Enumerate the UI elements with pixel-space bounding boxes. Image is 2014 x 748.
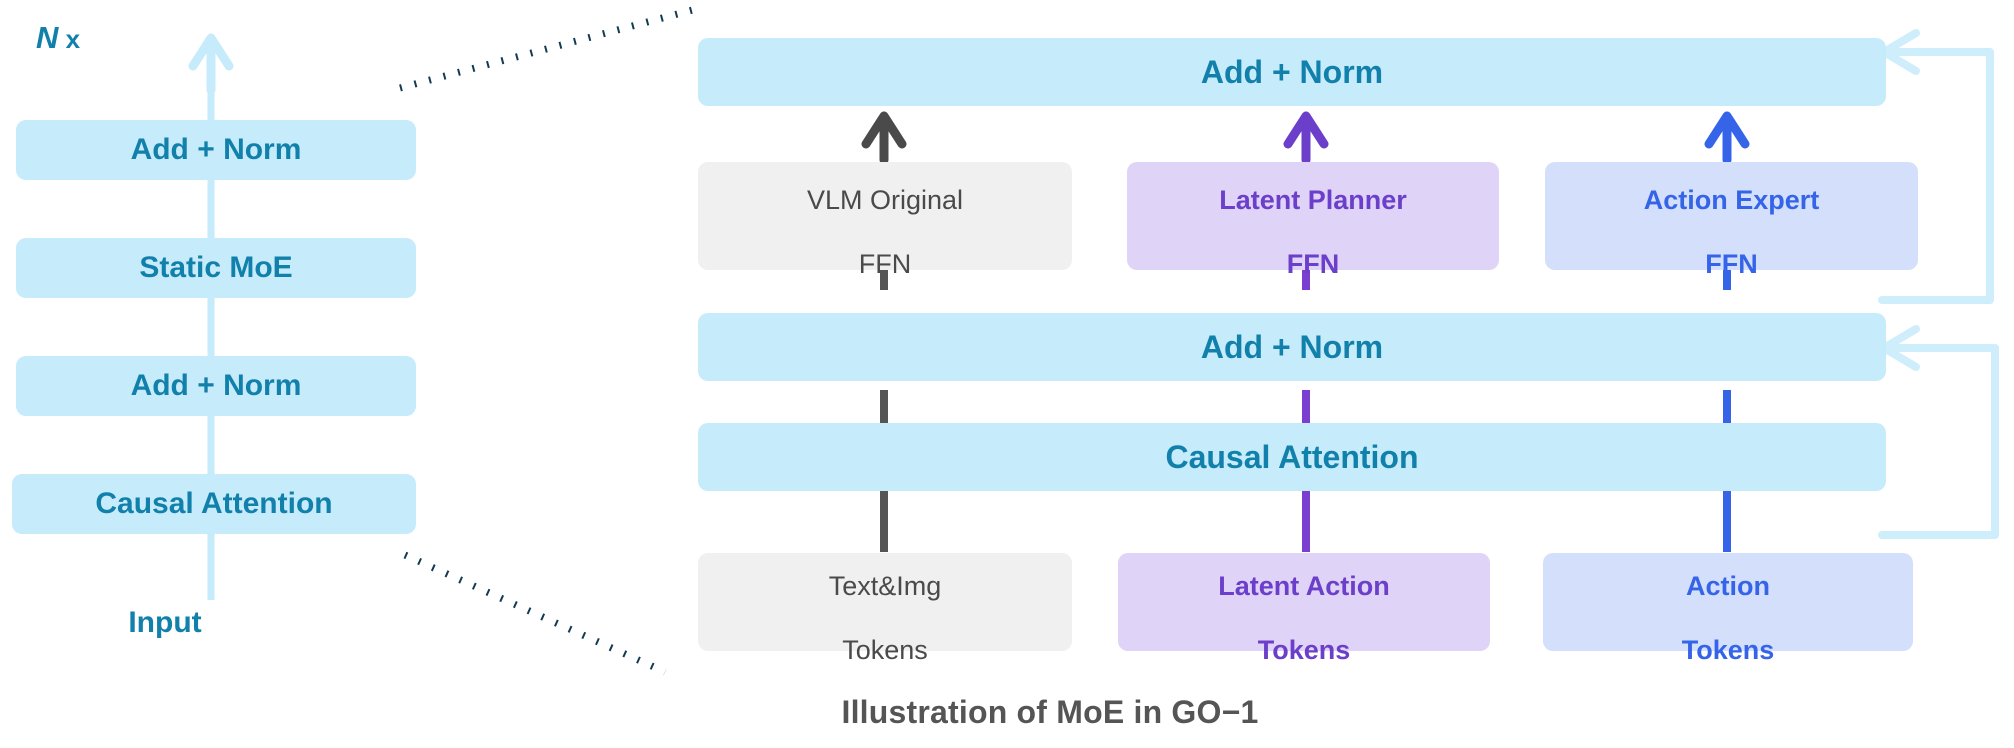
repeat-count-value: N: [36, 20, 58, 55]
token-box-line1: Latent Action: [1218, 571, 1390, 601]
input-label: Input: [0, 606, 330, 640]
expert-box-line1: Action Expert: [1644, 185, 1820, 215]
right-bar-label: Causal Attention: [1165, 438, 1418, 476]
left-block-label: Causal Attention: [95, 486, 332, 522]
residual-arrowhead-upper-icon: [1884, 33, 1916, 71]
expert-box-text: Action Expert FFN: [1644, 151, 1820, 281]
expert-box-line1: Latent Planner: [1219, 185, 1407, 215]
left-column-up-arrow-icon: [193, 38, 229, 90]
right-bar-add-norm-top[interactable]: Add + Norm: [698, 38, 1886, 106]
expert-box-latent-planner-ffn[interactable]: Latent Planner FFN: [1127, 162, 1499, 270]
expert-box-line2: FFN: [1287, 249, 1339, 279]
expert-box-line2: FFN: [1705, 249, 1757, 279]
left-block-add-norm-bottom[interactable]: Add + Norm: [16, 356, 416, 416]
left-block-static-moe[interactable]: Static MoE: [16, 238, 416, 298]
repeat-count-suffix: x: [58, 24, 80, 54]
expert-box-action-expert-ffn[interactable]: Action Expert FFN: [1545, 162, 1918, 270]
token-box-text: Action Tokens: [1682, 537, 1775, 667]
token-box-text-img-tokens[interactable]: Text&Img Tokens: [698, 553, 1072, 651]
expert-box-line1: VLM Original: [807, 185, 963, 215]
callout-guide-bottom-icon: [405, 555, 665, 672]
right-bar-add-norm-mid[interactable]: Add + Norm: [698, 313, 1886, 381]
left-block-label: Static MoE: [139, 250, 292, 286]
expert-box-line2: FFN: [859, 249, 911, 279]
left-block-label: Add + Norm: [131, 132, 302, 168]
left-block-causal-attention[interactable]: Causal Attention: [12, 474, 416, 534]
callout-guide-top-icon: [400, 8, 700, 88]
residual-arrowhead-lower-icon: [1884, 329, 1916, 367]
token-box-text: Text&Img Tokens: [829, 537, 942, 667]
token-box-line2: Tokens: [1258, 635, 1351, 665]
expert-box-vlm-original-ffn[interactable]: VLM Original FFN: [698, 162, 1072, 270]
token-box-action-tokens[interactable]: Action Tokens: [1543, 553, 1913, 651]
repeat-count-label: N x: [36, 20, 80, 56]
token-box-line2: Tokens: [1682, 635, 1775, 665]
diagram-canvas: N x Add + Norm Static MoE Add + Norm Cau…: [0, 0, 2014, 748]
token-box-line1: Action: [1686, 571, 1770, 601]
right-bar-label: Add + Norm: [1201, 328, 1383, 366]
figure-caption: Illustration of MoE in GO−1: [700, 694, 1400, 731]
token-box-line2: Tokens: [842, 635, 928, 665]
token-box-text: Latent Action Tokens: [1218, 537, 1390, 667]
expert-box-text: Latent Planner FFN: [1219, 151, 1407, 281]
token-box-latent-action-tokens[interactable]: Latent Action Tokens: [1118, 553, 1490, 651]
right-bar-label: Add + Norm: [1201, 53, 1383, 91]
residual-connection-lower: [1882, 348, 1995, 535]
right-bar-causal-attention[interactable]: Causal Attention: [698, 423, 1886, 491]
expert-box-text: VLM Original FFN: [807, 151, 963, 281]
token-box-line1: Text&Img: [829, 571, 942, 601]
left-block-add-norm-top[interactable]: Add + Norm: [16, 120, 416, 180]
left-block-label: Add + Norm: [131, 368, 302, 404]
